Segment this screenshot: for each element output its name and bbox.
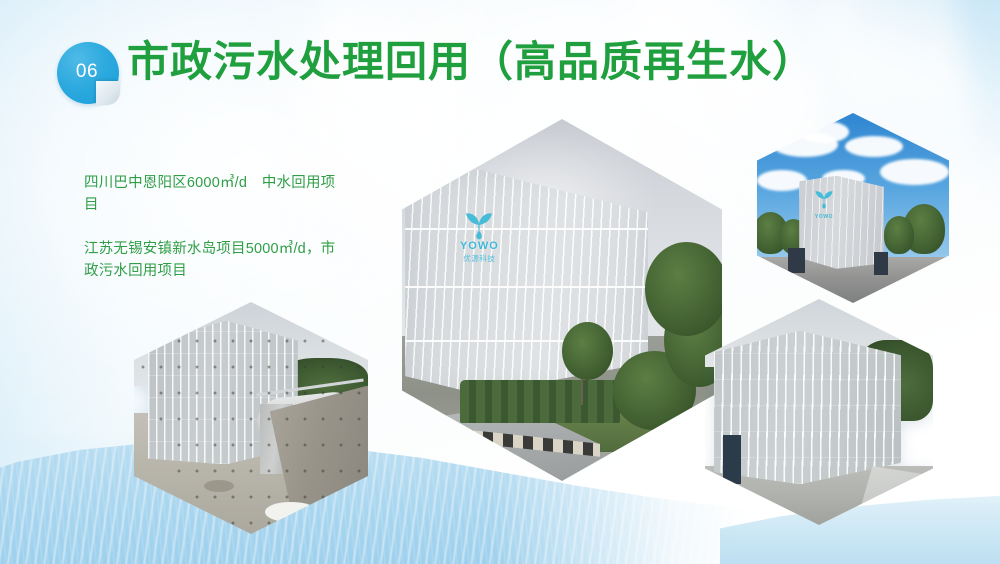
caption-project-wuxi: 江苏无锡安镇新水岛项目5000㎥/d，市政污水回用项目 bbox=[84, 238, 346, 283]
cloud-shape bbox=[845, 136, 903, 157]
photo-center-building bbox=[405, 170, 648, 394]
photo-center-building-band bbox=[405, 286, 648, 288]
yowo-logo-chinese: 优源科技 bbox=[456, 253, 502, 264]
yowo-logo-latin: YOWO bbox=[456, 240, 502, 254]
caption-project-bazhong: 四川巴中恩阳区6000㎥/d 中水回用项目 bbox=[84, 172, 346, 217]
photo-center-building-band bbox=[405, 228, 648, 230]
slide-canvas: 06 市政污水处理回用（高品质再生水） 四川巴中恩阳区6000㎥/d 中水回用项… bbox=[0, 0, 1000, 564]
sprout-water-drop-icon bbox=[464, 210, 494, 240]
sprout-water-drop-icon bbox=[814, 189, 834, 209]
photo-center-building-louvers bbox=[405, 170, 648, 394]
yowo-logo-center: YOWO 优源科技 bbox=[456, 210, 502, 265]
photo-center-tree-canopy bbox=[562, 322, 613, 380]
photo-tr-door bbox=[788, 248, 805, 273]
photo-br-building-mesh bbox=[714, 331, 901, 485]
photo-tr-door bbox=[874, 252, 887, 275]
photo-tr-tree bbox=[884, 216, 915, 254]
yowo-logo-top-right: YOWO bbox=[811, 189, 837, 220]
photo-center-tree bbox=[645, 242, 722, 336]
cloud-shape bbox=[880, 159, 949, 186]
slide-number-badge: 06 bbox=[57, 42, 119, 104]
photo-tr-building: YOWO bbox=[799, 176, 883, 269]
badge-number-label: 06 bbox=[57, 42, 119, 104]
photo-center-hedge bbox=[460, 380, 620, 423]
caption-block: 四川巴中恩阳区6000㎥/d 中水回用项目 江苏无锡安镇新水岛项目5000㎥/d… bbox=[84, 172, 346, 283]
photo-br-building bbox=[714, 331, 901, 485]
photo-br-service-door bbox=[723, 435, 741, 485]
page-title: 市政污水处理回用（高品质再生水） bbox=[127, 36, 815, 89]
yowo-logo-latin: YOWO bbox=[811, 214, 837, 220]
